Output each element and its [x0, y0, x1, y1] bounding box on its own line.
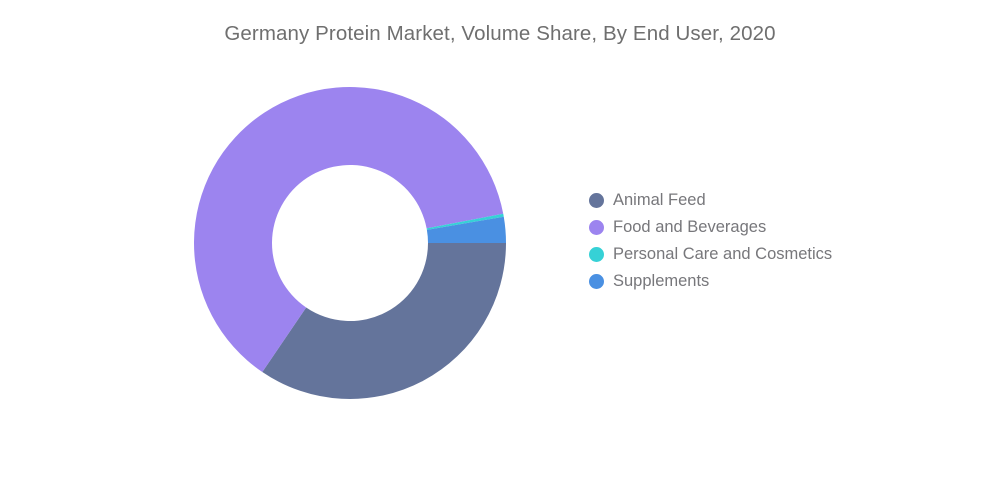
donut-slice-layer: [194, 87, 506, 399]
chart-legend: Animal Feed Food and Beverages Personal …: [589, 187, 919, 295]
donut-slice-animal-feed[interactable]: [262, 243, 506, 399]
donut-chart-plot-area: [194, 87, 506, 399]
donut-chart-figure: Germany Protein Market, Volume Share, By…: [0, 0, 1000, 483]
legend-label-personal-care-and-cosmetics: Personal Care and Cosmetics: [613, 246, 832, 263]
legend-label-animal-feed: Animal Feed: [613, 192, 706, 209]
chart-title: Germany Protein Market, Volume Share, By…: [0, 22, 1000, 46]
legend-swatch-personal-care-and-cosmetics: [589, 247, 604, 262]
legend-label-food-and-beverages: Food and Beverages: [613, 219, 766, 236]
legend-item-food-and-beverages[interactable]: Food and Beverages: [589, 214, 919, 241]
donut-chart-svg: [194, 87, 506, 399]
legend-item-personal-care-and-cosmetics[interactable]: Personal Care and Cosmetics: [589, 241, 919, 268]
legend-swatch-animal-feed: [589, 193, 604, 208]
legend-swatch-supplements: [589, 274, 604, 289]
legend-item-animal-feed[interactable]: Animal Feed: [589, 187, 919, 214]
legend-item-supplements[interactable]: Supplements: [589, 268, 919, 295]
legend-swatch-food-and-beverages: [589, 220, 604, 235]
legend-label-supplements: Supplements: [613, 273, 709, 290]
